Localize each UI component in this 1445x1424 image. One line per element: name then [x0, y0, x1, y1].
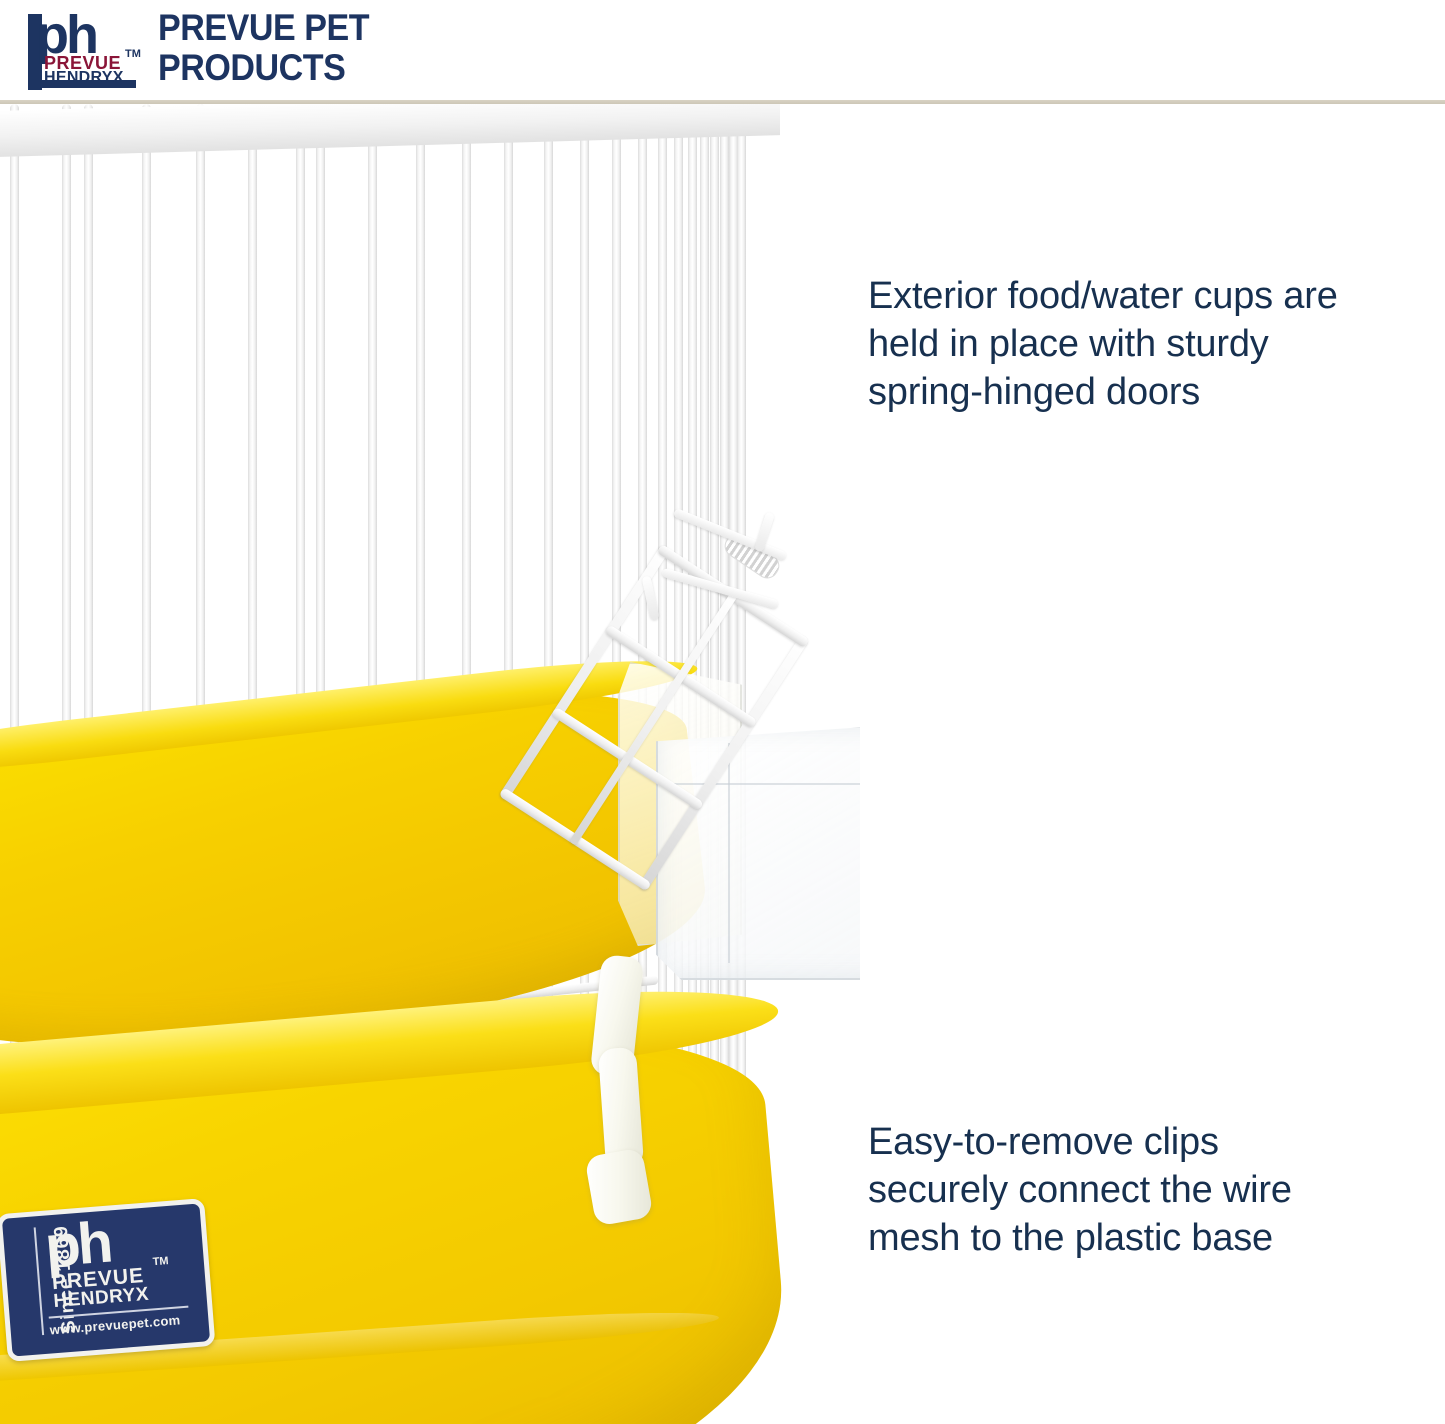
page-title-line2: PRODUCTS: [158, 48, 636, 88]
header-divider: [0, 100, 1445, 104]
product-feature-image: ph TM PREVUE HENDRYX PREVUE PET PRODUCTS: [0, 0, 1445, 1424]
exterior-cup-assembly: [640, 464, 860, 1024]
wire-to-base-clip[interactable]: [588, 956, 654, 1228]
callout-easy-remove-clips: Easy-to-remove clips securely connect th…: [868, 1118, 1338, 1262]
page-title: PREVUE PET PRODUCTS: [158, 8, 636, 88]
page-title-line1: PREVUE PET: [158, 8, 636, 48]
badge-trademark-icon: TM: [152, 1255, 169, 1268]
logo-trademark-icon: TM: [125, 48, 141, 60]
clip-foot: [584, 1147, 653, 1226]
product-photo: Since 1869 ph TM PREVUE HENDRYX www.prev…: [0, 104, 860, 1424]
prevue-hendryx-logo: ph TM PREVUE HENDRYX: [22, 6, 142, 94]
logo-name-hendryx: HENDRYX: [44, 70, 124, 86]
brand-header: ph TM PREVUE HENDRYX PREVUE PET PRODUCTS: [0, 0, 1445, 103]
cup-vertical-seam: [728, 743, 730, 963]
callout-exterior-cups: Exterior food/water cups are held in pla…: [868, 272, 1338, 416]
product-badge: Since 1869 ph TM PREVUE HENDRYX www.prev…: [0, 1198, 215, 1362]
